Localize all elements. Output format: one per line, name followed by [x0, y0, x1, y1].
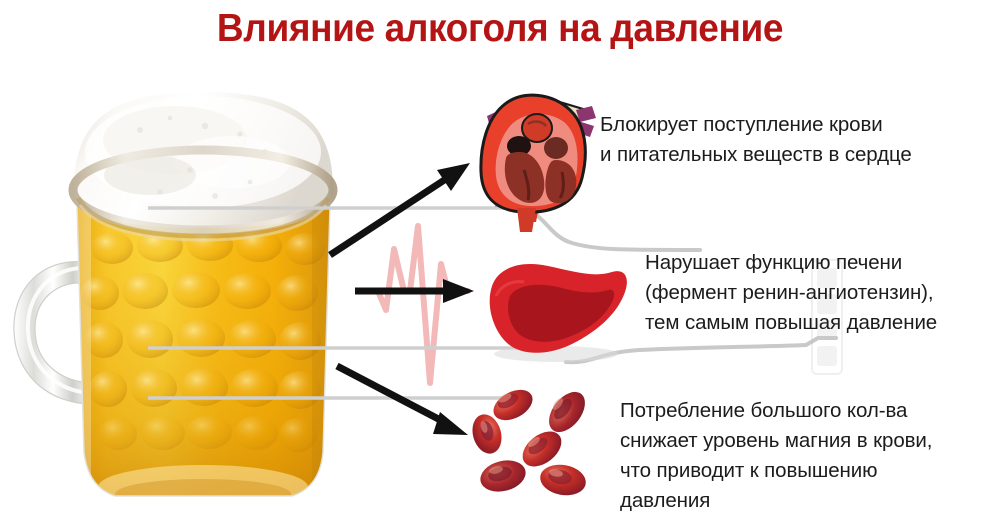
liver-body [490, 264, 627, 353]
callout-blood-text: Потребление большого кол-ва снижает уров… [620, 396, 995, 516]
rbc-3 [468, 411, 506, 457]
vena-cava [495, 112, 517, 207]
chamber-left-ventricle [505, 152, 545, 203]
chamber-right-atrium [544, 137, 568, 159]
liver-lobe-dark [508, 285, 614, 342]
page-title: Влияние алкоголя на давление [25, 6, 975, 52]
arrow-to-liver [355, 279, 474, 303]
rbc-2 [542, 385, 592, 438]
callout-liver-text: Нарушает функцию печени (фермент ренин-а… [645, 248, 995, 338]
mug-handle [14, 262, 92, 404]
rbc-5 [477, 456, 529, 496]
mug-dimples [81, 229, 325, 452]
infographic-canvas: Влияние алкоголя на давление [0, 0, 1000, 530]
liver-shadow [494, 346, 618, 362]
mug-body [77, 205, 330, 496]
heart-muscle [481, 95, 585, 212]
callout-heart-text: Блокирует поступление крови и питательны… [600, 110, 992, 170]
arrow-to-heart [330, 163, 470, 255]
rbc-1 [488, 384, 537, 427]
chamber-left-atrium [507, 136, 531, 156]
rbc-4 [516, 424, 568, 473]
mug-foam [73, 92, 333, 240]
connector-liver [566, 338, 836, 362]
aorta [513, 95, 583, 126]
arrow-to-blood [337, 366, 468, 435]
connector-heart [520, 208, 700, 250]
rbc-6 [538, 461, 589, 499]
chamber-right-ventricle [545, 160, 576, 203]
